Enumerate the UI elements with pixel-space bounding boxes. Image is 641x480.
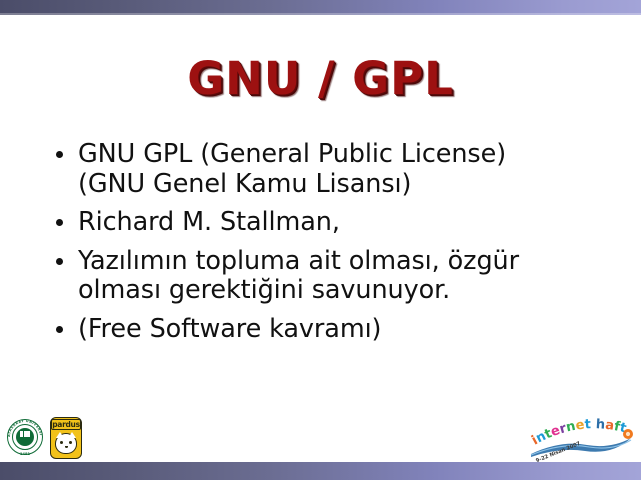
internet-haftasi-dot-center (626, 432, 630, 436)
bullet-dot-icon (56, 151, 63, 158)
internet-haftasi-icon: internet haftası 9-22 Nisan 2007 (527, 414, 637, 462)
title-container: GNU / GPL (0, 52, 641, 105)
internet-haftasi-graphic: internet haftası 9-22 Nisan 2007 (527, 414, 637, 462)
seal-year-label: 1481 (4, 452, 46, 456)
bullet-line: Yazılımın topluma ait olması, özgür (78, 247, 610, 277)
bullet-line: olması gerektiğini savunuyor. (78, 276, 610, 306)
pardus-wordmark: pardus (51, 419, 81, 430)
svg-text:GALATASARAY UNIVERSITESI: GALATASARAY UNIVERSITESI (4, 416, 43, 437)
list-item: Richard M. Stallman, (50, 208, 610, 238)
university-seal-icon: GALATASARAY UNIVERSITESI 1481 (4, 416, 46, 460)
bullet-line: (GNU Genel Kamu Lisansı) (78, 170, 610, 200)
bottom-decoration-bar (0, 462, 641, 480)
pardus-ear-right (68, 432, 76, 438)
list-item: (Free Software kavramı) (50, 315, 610, 345)
bullet-line: (Free Software kavramı) (78, 315, 610, 345)
top-decoration-bar (0, 0, 641, 15)
slide-canvas: GNU / GPL GNU GPL (General Public Licens… (0, 0, 641, 480)
bullet-dot-icon (56, 258, 63, 265)
bullet-dot-icon (56, 219, 63, 226)
footer-logo-strip: GALATASARAY UNIVERSITESI 1481 pardus (0, 414, 641, 462)
bullet-list: GNU GPL (General Public License) (GNU Ge… (50, 140, 610, 344)
slide-title: GNU / GPL (187, 52, 454, 105)
bullet-dot-icon (56, 326, 63, 333)
pardus-eye-right (69, 441, 72, 444)
seal-ring-label: GALATASARAY UNIVERSITESI (4, 416, 43, 437)
pardus-ear-left (56, 432, 64, 438)
pardus-nose (65, 446, 68, 448)
list-item: GNU GPL (General Public License) (GNU Ge… (50, 140, 610, 199)
pardus-face-icon (55, 433, 77, 454)
pardus-lynx-icon: pardus (47, 415, 85, 461)
bullet-line: Richard M. Stallman, (78, 208, 610, 238)
bullet-line: GNU GPL (General Public License) (78, 140, 610, 170)
pardus-eye-left (60, 441, 63, 444)
list-item: Yazılımın topluma ait olması, özgür olma… (50, 247, 610, 306)
